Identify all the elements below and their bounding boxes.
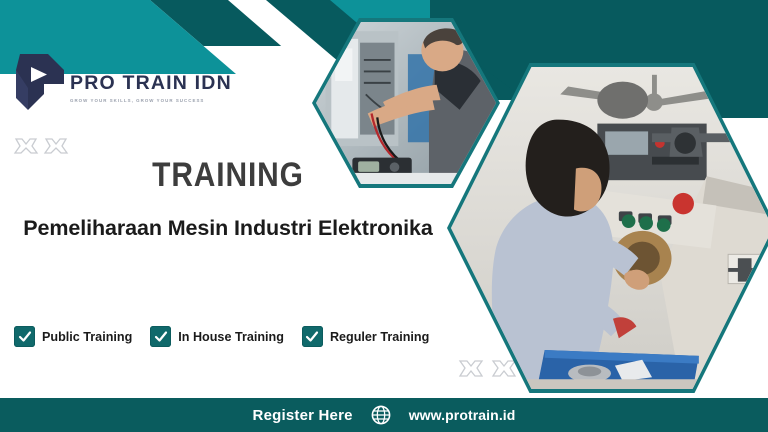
training-type-options: Public Training In House Training Regule… [14,326,429,347]
option-label: Reguler Training [330,330,429,344]
footer-bar: Register Here www.protrain.id [0,398,768,432]
website-url[interactable]: www.protrain.id [409,407,516,423]
register-here-label[interactable]: Register Here [253,407,353,424]
page-title: Pemeliharaan Mesin Industri Elektronika [18,214,438,242]
check-icon[interactable] [14,326,35,347]
option-public-training[interactable]: Public Training [14,326,132,347]
option-label: Public Training [42,330,132,344]
option-reguler-training[interactable]: Reguler Training [302,326,429,347]
brand-name: PRO TRAIN IDN [70,74,232,94]
option-in-house-training[interactable]: In House Training [150,326,284,347]
photo-operator-at-cnc-machine [447,63,768,393]
option-label: In House Training [178,330,284,344]
brand-tagline: GROW YOUR SKILLS, GROW YOUR SUCCESS [70,98,232,103]
globe-icon [371,405,391,425]
brand-logo[interactable]: PRO TRAIN IDN GROW YOUR SKILLS, GROW YOU… [14,50,184,128]
poster-canvas: PRO TRAIN IDN GROW YOUR SKILLS, GROW YOU… [0,0,768,432]
arrow-p-logo-icon [14,50,66,112]
check-icon[interactable] [302,326,323,347]
brand-wordmark: PRO TRAIN IDN GROW YOUR SKILLS, GROW YOU… [70,74,232,103]
check-icon[interactable] [150,326,171,347]
